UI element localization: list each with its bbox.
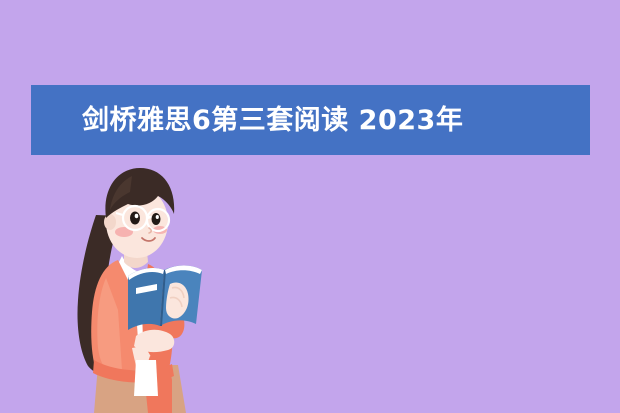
eye-right [152,213,161,225]
title-banner: 剑桥雅思6第三套阅读 2023年 [31,85,590,155]
title-card: 剑桥雅思6第三套阅读 2023年 [0,0,620,413]
woman-reading-book-illustration [36,160,226,413]
eye-right-glint [156,215,159,219]
inner-top-lower [134,360,158,396]
ear [104,214,116,230]
eye-left-glint [135,214,139,218]
book-left-page [128,268,164,330]
eye-left [130,212,140,225]
page-title: 剑桥雅思6第三套阅读 2023年 [82,107,463,134]
